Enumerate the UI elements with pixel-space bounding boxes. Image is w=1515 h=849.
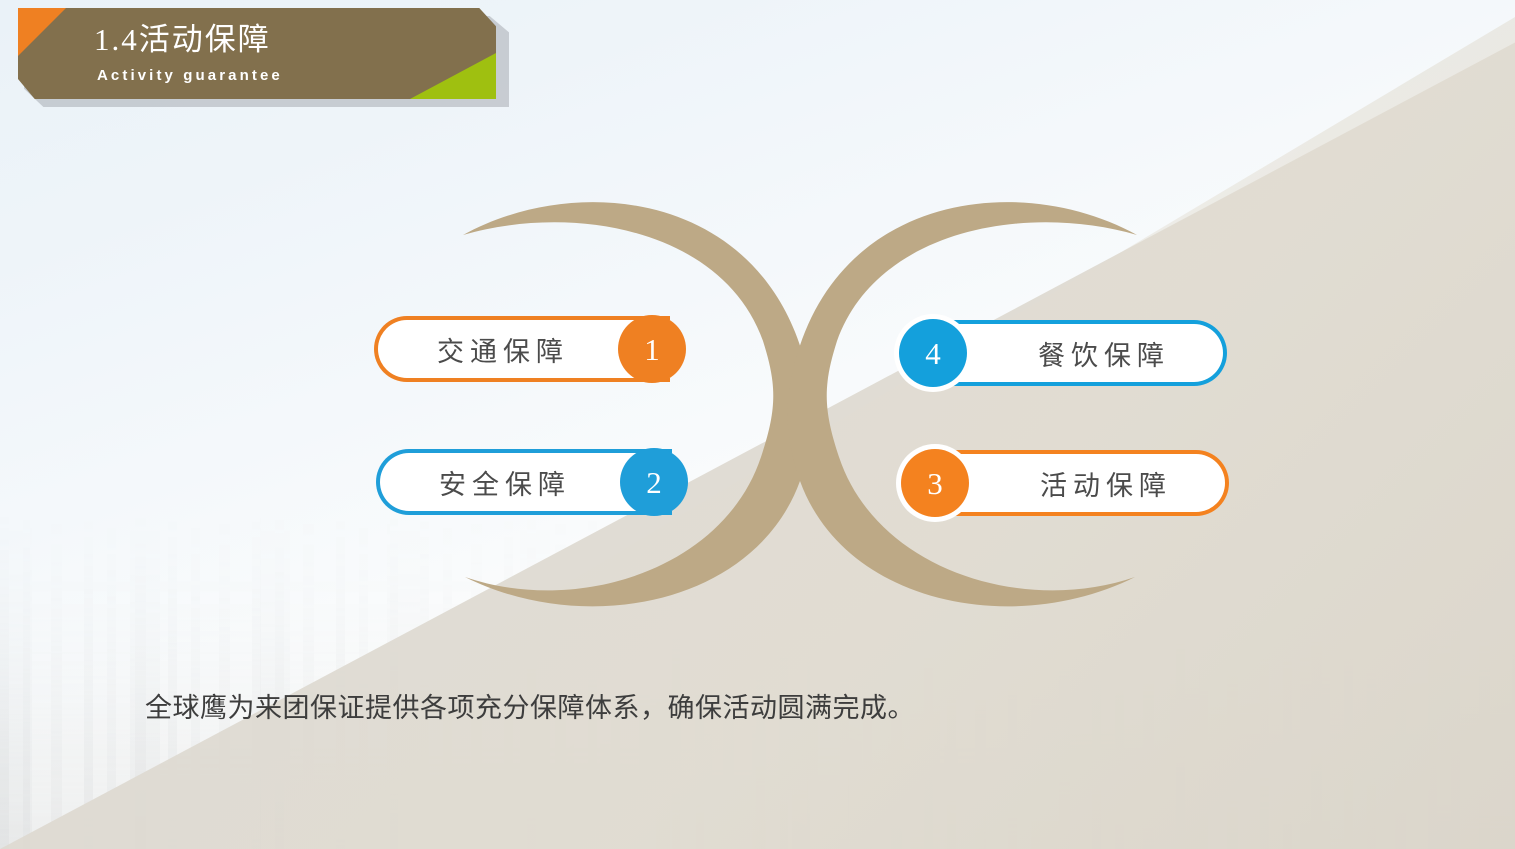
item-badge-4[interactable]: 4	[899, 319, 967, 387]
item-number-3: 3	[927, 468, 943, 499]
page-subtitle: Activity guarantee	[97, 68, 283, 83]
item-number-1: 1	[644, 334, 660, 365]
infinity-right-arc	[788, 202, 1137, 606]
item-number-2: 2	[646, 467, 662, 498]
item-label-3: 活动保障	[933, 450, 1229, 516]
slide-canvas: 1.4活动保障 Activity guarantee 交通保障 1 安全保障 2…	[0, 0, 1515, 849]
footer-note: 全球鹰为来团保证提供各项充分保障体系，确保活动圆满完成。	[145, 686, 915, 725]
item-badge-2[interactable]: 2	[620, 448, 688, 516]
item-number-4: 4	[925, 338, 941, 369]
item-pill-3[interactable]: 活动保障	[933, 450, 1229, 516]
item-badge-3[interactable]: 3	[901, 449, 969, 517]
infinity-left-arc	[463, 202, 812, 606]
item-label-4: 餐饮保障	[931, 320, 1227, 386]
header-banner: 1.4活动保障 Activity guarantee	[10, 8, 495, 103]
item-badge-1[interactable]: 1	[618, 315, 686, 383]
infinity-ribbon-graphic	[455, 185, 1145, 610]
page-title: 1.4活动保障	[94, 24, 271, 55]
item-pill-4[interactable]: 餐饮保障	[931, 320, 1227, 386]
